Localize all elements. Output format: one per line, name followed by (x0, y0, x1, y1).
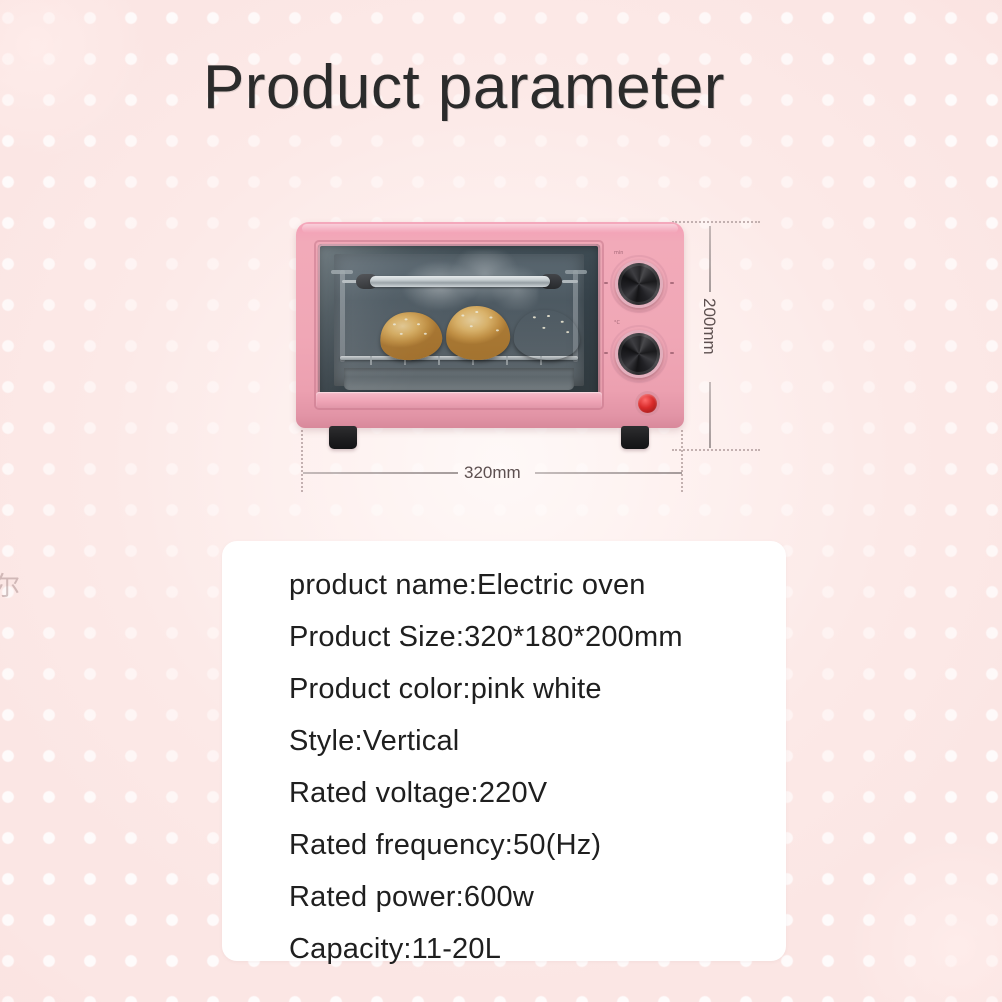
dimension-line-height-lower (709, 382, 711, 448)
oven-foot-left (329, 426, 357, 449)
dimension-line-height-upper (709, 226, 711, 292)
spec-line-style: Style:Vertical (289, 715, 772, 767)
door-glass-reflection (318, 244, 600, 400)
oven-door-glass (318, 244, 600, 400)
spec-line-product-size: Product Size:320*180*200mm (289, 611, 772, 663)
specification-card: product name:Electric oven Product Size:… (222, 541, 786, 961)
dimension-label-height: 200mm (699, 298, 719, 355)
guide-line-bottom (672, 449, 760, 451)
dimension-label-width: 320mm (464, 463, 521, 483)
page-title: Product parameter (203, 52, 725, 123)
product-parameter-page: 尔 Product parameter 200mm 320mm (0, 0, 1002, 1002)
knob-tick (670, 352, 674, 354)
dimension-line-width-right (535, 472, 682, 474)
knob-tick (604, 282, 608, 284)
spec-line-product-name: product name:Electric oven (289, 559, 772, 611)
specification-list: product name:Electric oven Product Size:… (289, 559, 772, 975)
timer-knob[interactable] (615, 330, 663, 378)
spec-line-rated-power: Rated power:600w (289, 871, 772, 923)
knob-scale-marking-top: min (614, 250, 623, 256)
knob-scale-marking-middle: °C (614, 320, 620, 326)
spec-line-rated-frequency: Rated frequency:50(Hz) (289, 819, 772, 871)
oven-foot-right (621, 426, 649, 449)
spec-line-capacity: Capacity:11-20L (289, 923, 772, 975)
power-indicator-light (638, 394, 657, 413)
oven-door-handle-bar (316, 392, 602, 408)
temperature-knob[interactable] (615, 260, 663, 308)
knob-tick (670, 282, 674, 284)
watermark-text: 尔 (0, 566, 21, 603)
dimension-line-width-left (303, 472, 458, 474)
knob-tick (604, 352, 608, 354)
spec-line-rated-voltage: Rated voltage:220V (289, 767, 772, 819)
guide-line-top (672, 221, 760, 223)
spec-line-product-color: Product color:pink white (289, 663, 772, 715)
product-image-electric-oven: min °C (296, 222, 684, 450)
